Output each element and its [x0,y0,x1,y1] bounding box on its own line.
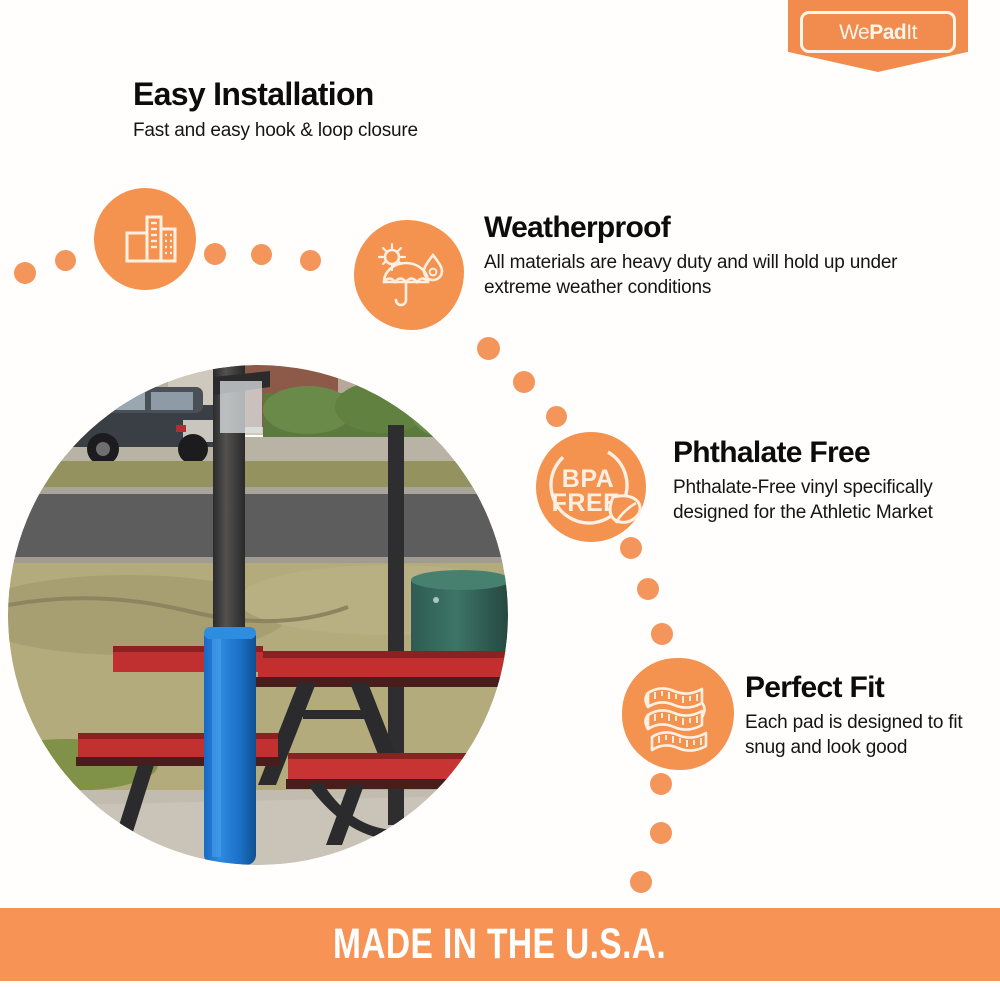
path-dot [300,250,321,271]
path-dot [637,578,659,600]
feature-title: Phthalate Free [673,437,973,469]
path-dot [650,822,672,844]
feature-description: Each pad is designed to fit snug and loo… [745,710,995,761]
logo-text-it: It [906,21,917,44]
path-dot [620,537,642,559]
tape-measure-icon [622,658,734,770]
path-dot [477,337,500,360]
path-dot [14,262,36,284]
feature-description: Fast and easy hook & loop closure [133,118,653,143]
made-in-usa-banner: MADE IN THE U.S.A. [0,908,1000,981]
bpa-free-leaf-icon: BPA FREE [536,432,646,542]
path-dot [651,623,673,645]
banner-text: MADE IN THE U.S.A. [333,920,666,969]
feature-weatherproof: Weatherproof All materials are heavy dut… [484,212,924,300]
path-dot [55,250,76,271]
path-dot [251,244,272,265]
path-dot [513,371,535,393]
logo-text-pad: Pad [869,21,906,44]
feature-description: All materials are heavy duty and will ho… [484,250,924,301]
path-dot [650,773,672,795]
feature-title: Easy Installation [133,78,653,112]
logo-text: WePadIt [839,22,917,43]
feature-description: Phthalate-Free vinyl specifically design… [673,475,973,526]
logo-text-we: We [839,21,869,44]
buildings-icon [94,188,196,290]
feature-phthalate-free: Phthalate Free Phthalate-Free vinyl spec… [673,437,973,525]
product-feature-infographic: WePadIt [0,0,1000,987]
product-photo [8,365,508,865]
path-dot [630,871,652,893]
feature-easy-installation: Easy Installation Fast and easy hook & l… [133,78,653,143]
path-dot [204,243,226,265]
feature-title: Weatherproof [484,212,924,244]
path-dot [546,406,567,427]
brand-logo[interactable]: WePadIt [788,0,968,72]
feature-title: Perfect Fit [745,672,995,704]
feature-perfect-fit: Perfect Fit Each pad is designed to fit … [745,672,995,760]
sun-umbrella-raindrop-icon [354,220,464,330]
logo-outline: WePadIt [800,11,956,53]
